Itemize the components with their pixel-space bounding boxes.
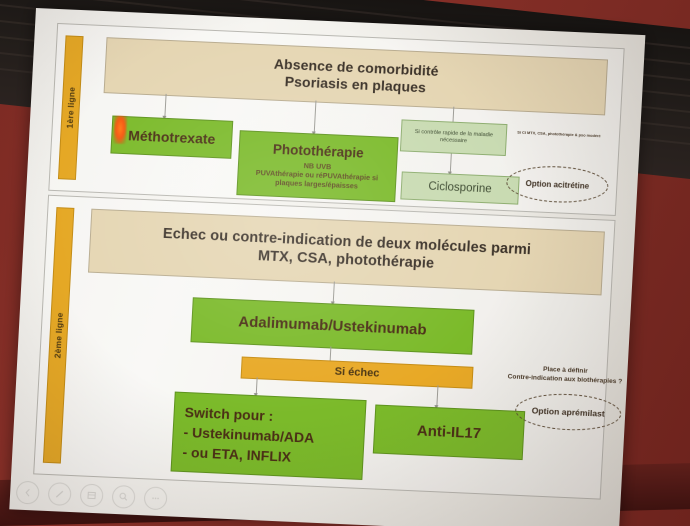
box-condition-ciclosporine[interactable]: Si contrôle rapide de la maladie nécessa… <box>400 119 508 156</box>
more-options-icon[interactable] <box>143 486 167 510</box>
box-methotrexate[interactable]: Méthotrexate <box>110 116 233 159</box>
previous-slide-icon[interactable] <box>16 481 40 505</box>
presenter-toolbar[interactable] <box>16 481 168 511</box>
line-label-2eme-ligne-text: 2ème ligne <box>52 312 64 358</box>
screen-surface: 1ère ligne Absence de comorbidité Psoria… <box>9 8 645 526</box>
box-phototherapie-label: Photothérapie <box>272 142 364 162</box>
option-apremilast-label: Option aprémilast <box>531 405 605 418</box>
box-phototherapie[interactable]: Photothérapie NB UVB PUVAthérapie ou réP… <box>236 130 398 202</box>
box-ciclosporine-label: Ciclosporine <box>428 179 492 196</box>
box-si-echec-label: Si échec <box>334 366 379 380</box>
slide-content: 1ère ligne Absence de comorbidité Psoria… <box>33 23 622 500</box>
projection-screen: 1ère ligne Absence de comorbidité Psoria… <box>9 8 645 526</box>
box-methotrexate-label: Méthotrexate <box>128 127 216 148</box>
box-switch-pour-bullet2: - ou ETA, INFLIX <box>182 442 292 467</box>
box-anti-il17-label: Anti-IL17 <box>416 422 481 443</box>
box-anti-il17[interactable]: Anti-IL17 <box>373 404 525 460</box>
line-label-1ere-ligne-text: 1ère ligne <box>65 87 77 129</box>
pen-icon[interactable] <box>48 482 72 506</box>
box-ciclosporine[interactable]: Ciclosporine <box>400 171 519 204</box>
box-switch-pour[interactable]: Switch pour : - Ustekinumab/ADA - ou ETA… <box>171 392 367 480</box>
box-adalimumab-ustekinumab-label: Adalimumab/Ustekinumab <box>238 313 427 339</box>
slide-overview-icon[interactable] <box>80 483 104 507</box>
option-acitretine-label: Option acitrétine <box>525 178 589 190</box>
projected-slide-photograph: 1ère ligne Absence de comorbidité Psoria… <box>0 0 690 526</box>
zoom-icon[interactable] <box>112 485 136 509</box>
